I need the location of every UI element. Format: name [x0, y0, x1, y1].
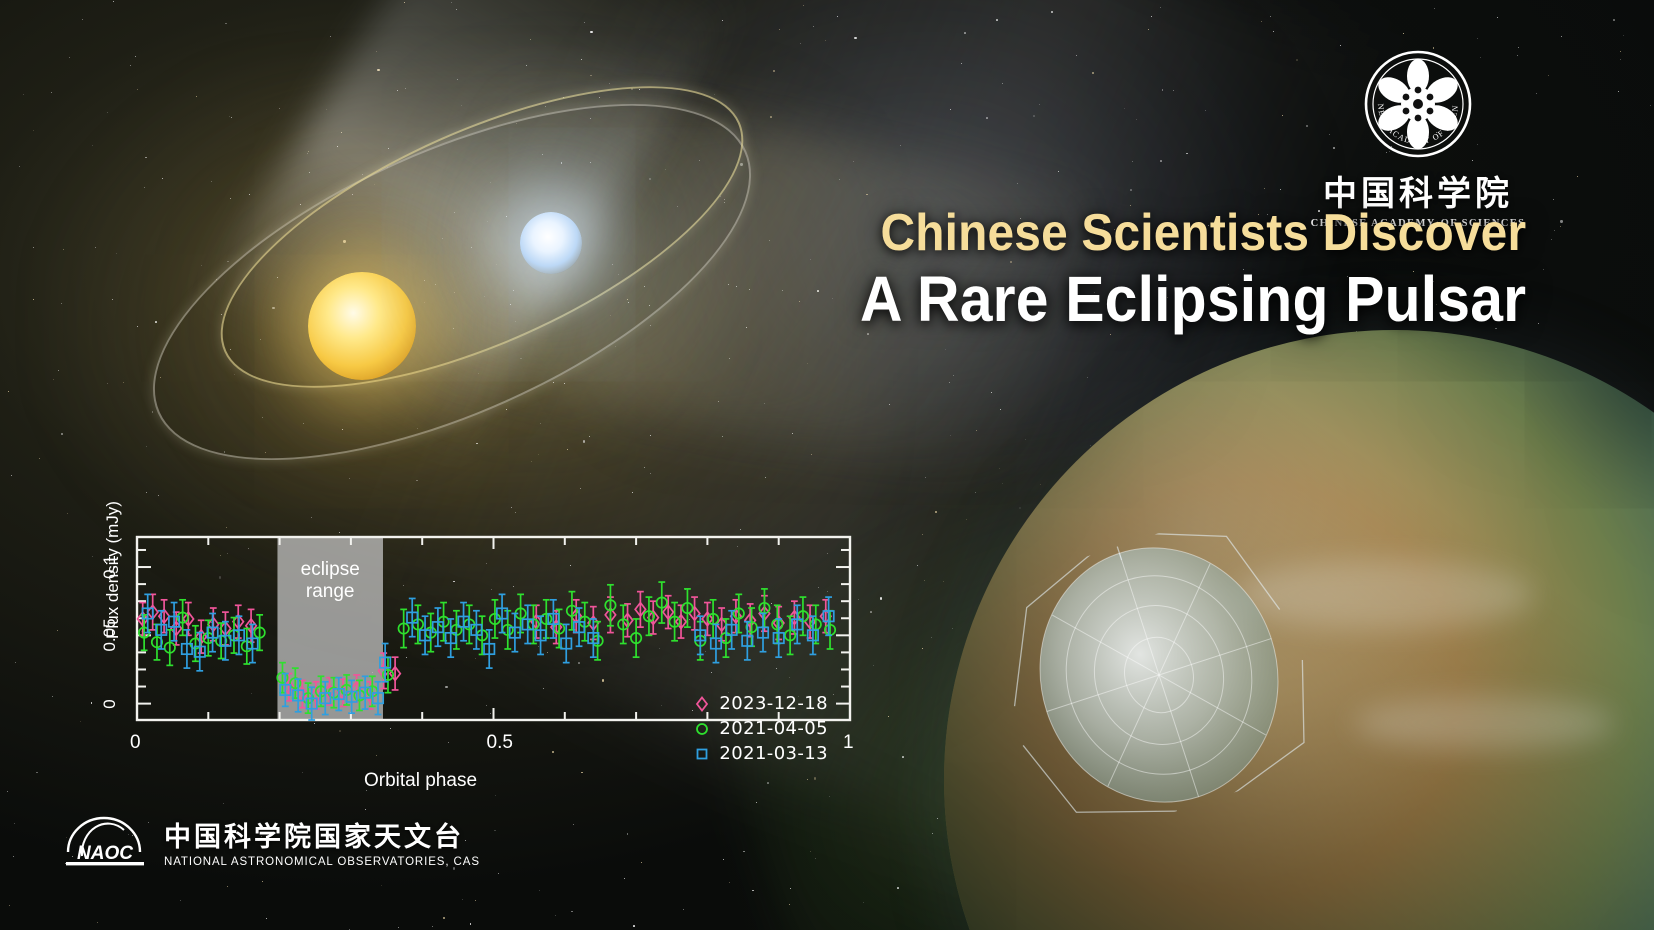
x-axis-label: Orbital phase — [364, 770, 477, 792]
x-tick-label: 0 — [130, 732, 141, 754]
legend-item[interactable]: 2021-04-05 — [694, 716, 828, 741]
diamond-marker-icon — [694, 696, 710, 712]
naoc-mark-text: NAOC — [77, 843, 133, 864]
headline: Chinese Scientists Discover A Rare Eclip… — [802, 206, 1526, 334]
companion-star — [308, 272, 416, 380]
light-curve-chart: Flux density (mJy) Orbital phase 2023-12… — [64, 500, 864, 800]
naoc-logo: NAOC 中国科学院国家天文台 NATIONAL ASTRONOMICAL OB… — [62, 810, 480, 868]
headline-line-2: A Rare Eclipsing Pulsar — [860, 265, 1526, 334]
circle-marker-icon — [694, 721, 710, 737]
legend-label: 2021-04-05 — [719, 718, 828, 739]
naoc-english-name: NATIONAL ASTRONOMICAL OBSERVATORIES, CAS — [164, 856, 480, 868]
legend-label: 2021-03-13 — [719, 743, 828, 764]
legend-item[interactable]: 2021-03-13 — [694, 741, 828, 766]
legend-item[interactable]: 2023-12-18 — [694, 691, 828, 716]
pulsar-neutron-star — [520, 212, 582, 274]
headline-line-1: Chinese Scientists Discover — [860, 206, 1526, 261]
eclipse-range-label: eclipserange — [275, 559, 385, 603]
naoc-chinese-name: 中国科学院国家天文台 — [164, 823, 480, 853]
y-tick-label: 0.1 — [100, 544, 120, 590]
y-tick-label: 0 — [100, 681, 120, 727]
y-tick-label: 0.05 — [100, 612, 120, 658]
x-tick-label: 0.5 — [487, 732, 513, 754]
cas-flower-emblem: CHINESE ACADEMY OF SCIENCES — [1362, 48, 1474, 160]
square-marker-icon — [694, 746, 710, 762]
legend-label: 2023-12-18 — [719, 693, 828, 714]
chart-legend: 2023-12-18 2021-04-05 2021-03-13 — [694, 691, 828, 766]
poster-canvas: CHINESE ACADEMY OF SCIENCES 中国科学院 CHINES… — [0, 0, 1654, 930]
cloud-band — [1354, 696, 1614, 750]
naoc-dome-icon: NAOC — [62, 810, 148, 868]
x-tick-label: 1 — [843, 732, 854, 754]
binary-system-illustration — [120, 40, 900, 510]
cas-logo: CHINESE ACADEMY OF SCIENCES 中国科学院 CHINES… — [1308, 48, 1528, 229]
